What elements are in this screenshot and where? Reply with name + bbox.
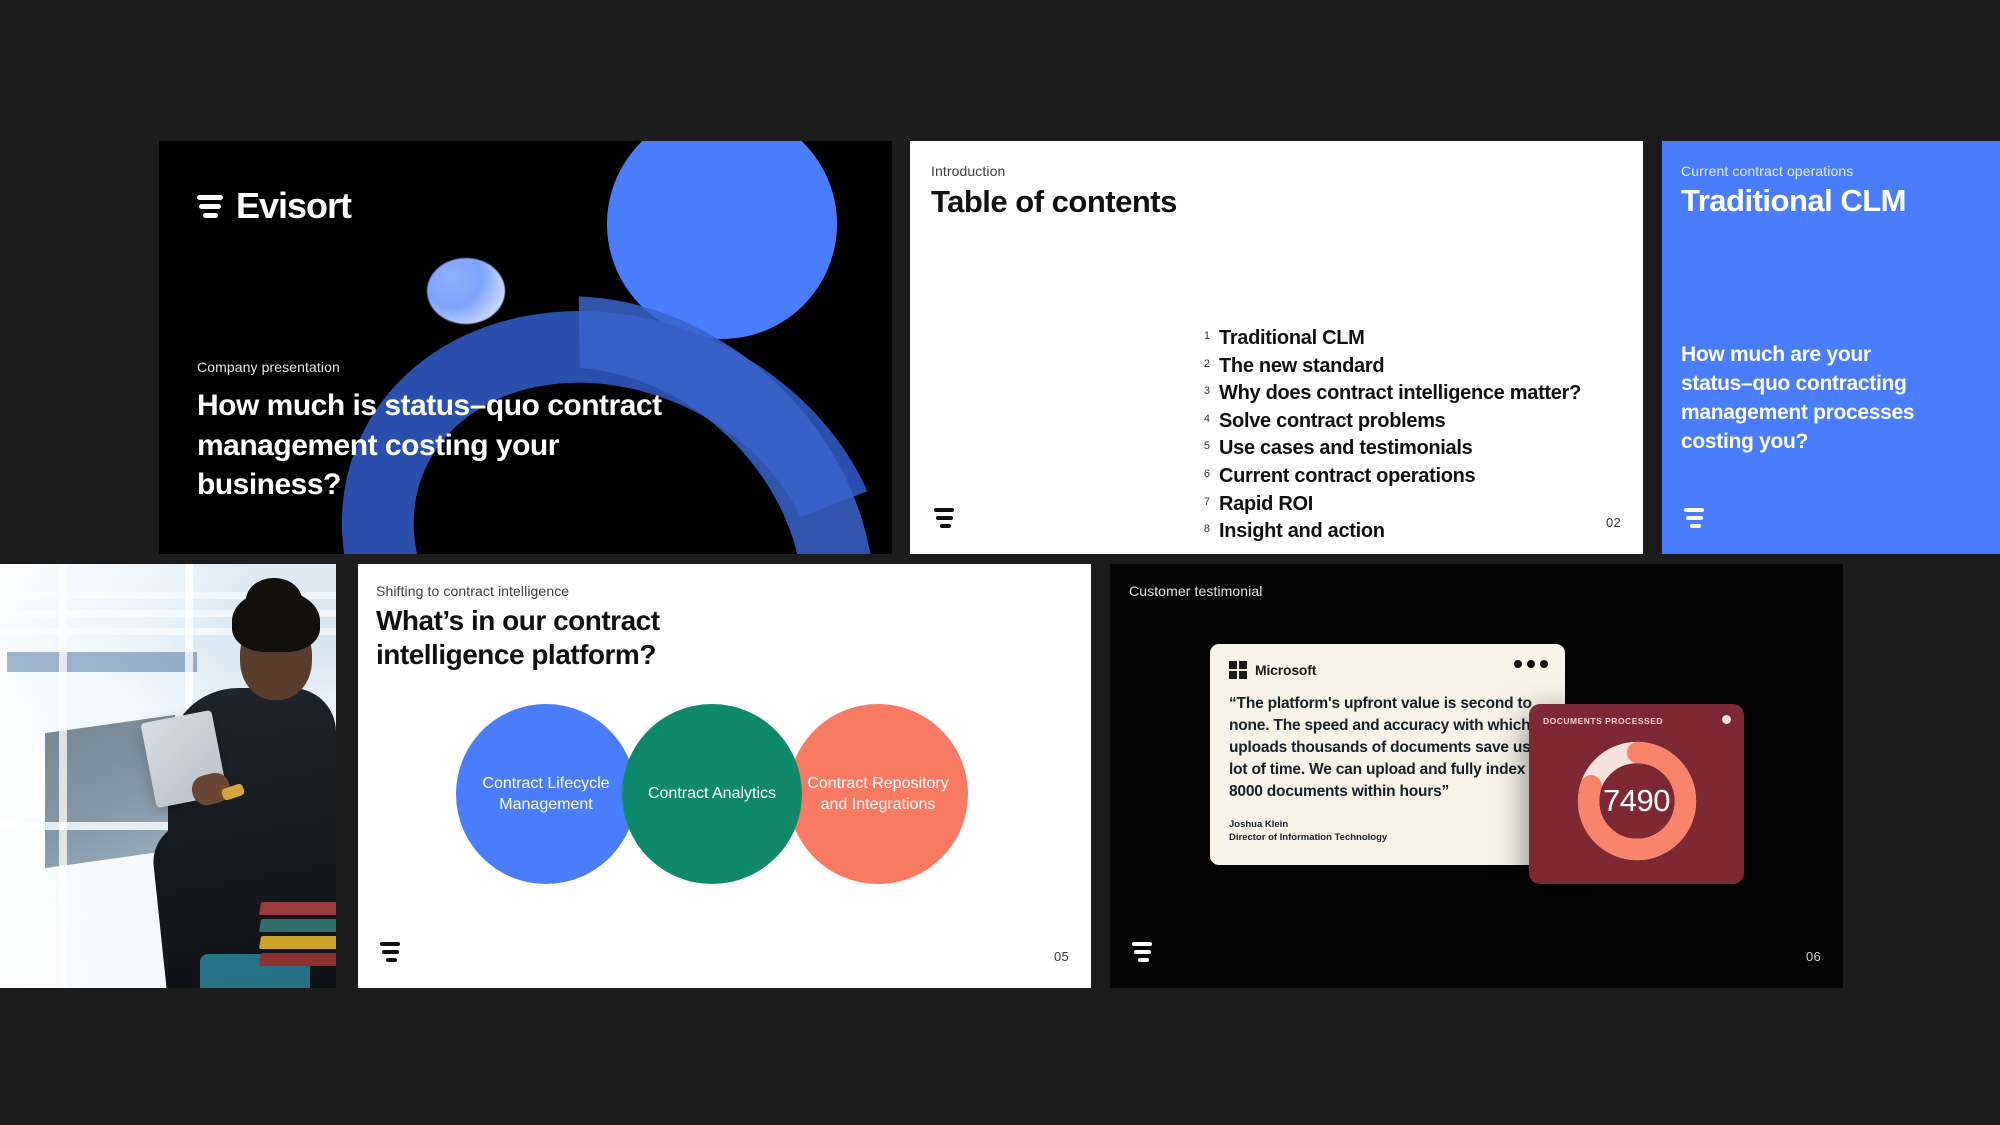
toc-number: 4 bbox=[1192, 410, 1210, 425]
slide-customer-testimonial[interactable]: Customer testimonial Microsoft “The plat… bbox=[1110, 564, 1843, 988]
toc-label: Insight and action bbox=[1219, 520, 1385, 544]
testimonial-card[interactable]: Microsoft “The platform's upfront value … bbox=[1210, 644, 1565, 865]
decorative-gradient-blob bbox=[427, 258, 505, 324]
testimonial-attribution: Joshua Klein Director of Information Tec… bbox=[1229, 818, 1546, 845]
stacked-books bbox=[260, 902, 336, 976]
venn-circle-contract-analytics[interactable]: Contract Analytics bbox=[622, 704, 802, 884]
toc-label: Use cases and testimonials bbox=[1219, 437, 1472, 461]
list-item[interactable]: 2 The new standard bbox=[1192, 355, 1581, 379]
toc-number: 6 bbox=[1192, 465, 1210, 480]
slide3-body-text: How much are your status–quo contracting… bbox=[1681, 341, 1941, 457]
list-item[interactable]: 5 Use cases and testimonials bbox=[1192, 437, 1581, 461]
table-of-contents-list: 1 Traditional CLM 2 The new standard 3 W… bbox=[1192, 327, 1581, 548]
author-name: Joshua Klein bbox=[1229, 818, 1546, 831]
toc-number: 1 bbox=[1192, 327, 1210, 342]
company-name: Microsoft bbox=[1255, 662, 1316, 678]
slide1-eyebrow: Company presentation bbox=[197, 359, 340, 375]
toc-number: 3 bbox=[1192, 382, 1210, 397]
person-hair-bun bbox=[246, 578, 302, 622]
toc-label: Rapid ROI bbox=[1219, 493, 1313, 517]
microsoft-logo-icon bbox=[1229, 661, 1247, 679]
slide3-title: Traditional CLM bbox=[1681, 183, 1906, 219]
slide2-eyebrow: Introduction bbox=[931, 163, 1005, 179]
list-item[interactable]: 3 Why does contract intelligence matter? bbox=[1192, 382, 1581, 406]
slide2-title: Table of contents bbox=[931, 184, 1177, 220]
documents-processed-kpi-card[interactable]: DOCUMENTS PROCESSED 7490 bbox=[1529, 704, 1744, 884]
photo-image bbox=[0, 564, 336, 988]
status-dot-icon bbox=[1722, 715, 1731, 724]
slide-traditional-clm[interactable]: Current contract operations Traditional … bbox=[1662, 141, 2000, 554]
toc-label: Current contract operations bbox=[1219, 465, 1475, 489]
slide-gallery-canvas: Evisort Company presentation How much is… bbox=[0, 0, 2000, 1125]
toc-number: 8 bbox=[1192, 520, 1210, 535]
list-item[interactable]: 1 Traditional CLM bbox=[1192, 327, 1581, 351]
evisort-mark-icon bbox=[380, 942, 400, 962]
toc-label: Why does contract intelligence matter? bbox=[1219, 382, 1581, 406]
venn-circle-label: Contract Analytics bbox=[648, 783, 776, 804]
venn-circle-contract-lifecycle-management[interactable]: Contract Lifecycle Management bbox=[456, 704, 636, 884]
toc-label: Traditional CLM bbox=[1219, 327, 1365, 351]
toc-number: 7 bbox=[1192, 493, 1210, 508]
list-item[interactable]: 8 Insight and action bbox=[1192, 520, 1581, 544]
evisort-mark-icon bbox=[934, 508, 954, 528]
kpi-label: DOCUMENTS PROCESSED bbox=[1543, 716, 1663, 726]
kpi-value: 7490 bbox=[1603, 783, 1670, 819]
more-options-icon[interactable] bbox=[1514, 660, 1548, 668]
list-item[interactable]: 6 Current contract operations bbox=[1192, 465, 1581, 489]
list-item[interactable]: 7 Rapid ROI bbox=[1192, 493, 1581, 517]
slide-photo-woman-with-tablet[interactable] bbox=[0, 564, 336, 988]
list-item[interactable]: 4 Solve contract problems bbox=[1192, 410, 1581, 434]
slide-hero-company-presentation[interactable]: Evisort Company presentation How much is… bbox=[159, 141, 892, 554]
evisort-wordmark: Evisort bbox=[236, 185, 351, 227]
evisort-mark-icon bbox=[1132, 942, 1152, 962]
slide3-eyebrow: Current contract operations bbox=[1681, 163, 1853, 179]
page-number: 06 bbox=[1806, 949, 1821, 964]
page-number: 02 bbox=[1606, 515, 1621, 530]
evisort-mark-icon bbox=[197, 195, 223, 218]
evisort-logo: Evisort bbox=[197, 185, 351, 227]
slide6-eyebrow: Customer testimonial bbox=[1129, 583, 1263, 599]
venn-circle-label: Contract Repository and Integrations bbox=[804, 773, 952, 815]
company-row: Microsoft bbox=[1229, 661, 1546, 679]
toc-label: The new standard bbox=[1219, 355, 1384, 379]
testimonial-quote: “The platform's upfront value is second … bbox=[1229, 693, 1546, 803]
slide-table-of-contents[interactable]: Introduction Table of contents 1 Traditi… bbox=[910, 141, 1643, 554]
evisort-mark-icon bbox=[1684, 508, 1704, 528]
author-title: Director of Information Technology bbox=[1229, 831, 1546, 844]
slide1-title: How much is status–quo contract manageme… bbox=[197, 386, 667, 505]
venn-circle-label: Contract Lifecycle Management bbox=[472, 773, 620, 815]
venn-circle-contract-repository-and-integrations[interactable]: Contract Repository and Integrations bbox=[788, 704, 968, 884]
slide5-title: What’s in our contract intelligence plat… bbox=[376, 604, 706, 671]
toc-number: 5 bbox=[1192, 437, 1210, 452]
slide-contract-intelligence-platform[interactable]: Shifting to contract intelligence What’s… bbox=[358, 564, 1091, 988]
slide5-eyebrow: Shifting to contract intelligence bbox=[376, 583, 569, 599]
venn-diagram: Contract Lifecycle Management Contract R… bbox=[456, 704, 996, 884]
window-mullion bbox=[59, 564, 67, 988]
toc-number: 2 bbox=[1192, 355, 1210, 370]
page-number: 05 bbox=[1054, 949, 1069, 964]
toc-label: Solve contract problems bbox=[1219, 410, 1446, 434]
